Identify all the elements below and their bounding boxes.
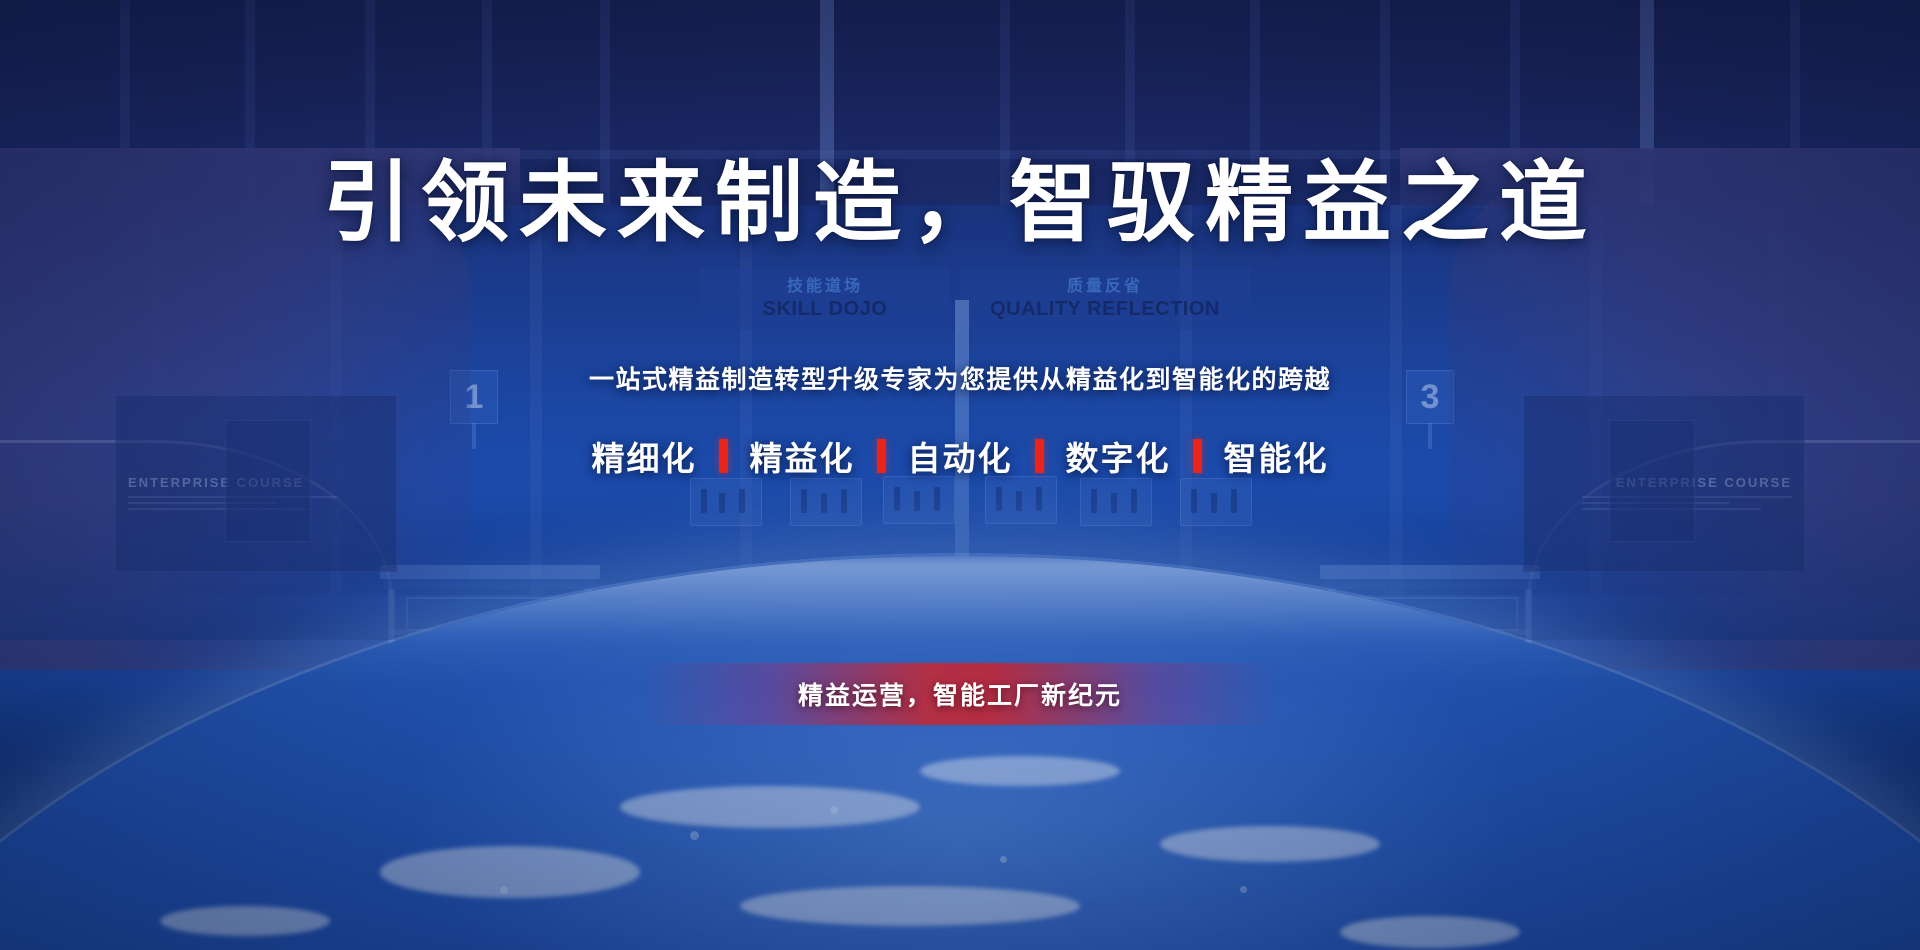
keyword-separator-icon [1035, 439, 1044, 473]
hero-banner: 技能道场 SKILL DOJO 质量反省 QUALITY REFLECTION … [0, 0, 1920, 950]
keyword-separator-icon [719, 439, 728, 473]
tagline-badge: 精益运营，智能工厂新纪元 [640, 663, 1280, 725]
keyword-item: 精益化 [750, 432, 855, 480]
keyword-list: 精细化 精益化 自动化 数字化 智能化 [0, 432, 1920, 480]
keyword-item: 精细化 [592, 432, 697, 480]
keyword-item: 自动化 [908, 432, 1013, 480]
keyword-item: 智能化 [1224, 432, 1329, 480]
page-title: 引领未来制造，智驭精益之道 [0, 132, 1920, 259]
keyword-separator-icon [877, 439, 886, 473]
keyword-separator-icon [1193, 439, 1202, 473]
tagline-text: 精益运营，智能工厂新纪元 [798, 676, 1122, 712]
hero-content: 引领未来制造，智驭精益之道 一站式精益制造转型升级专家为您提供从精益化到智能化的… [0, 0, 1920, 950]
keyword-item: 数字化 [1066, 432, 1171, 480]
hero-subtitle: 一站式精益制造转型升级专家为您提供从精益化到智能化的跨越 [0, 360, 1920, 396]
